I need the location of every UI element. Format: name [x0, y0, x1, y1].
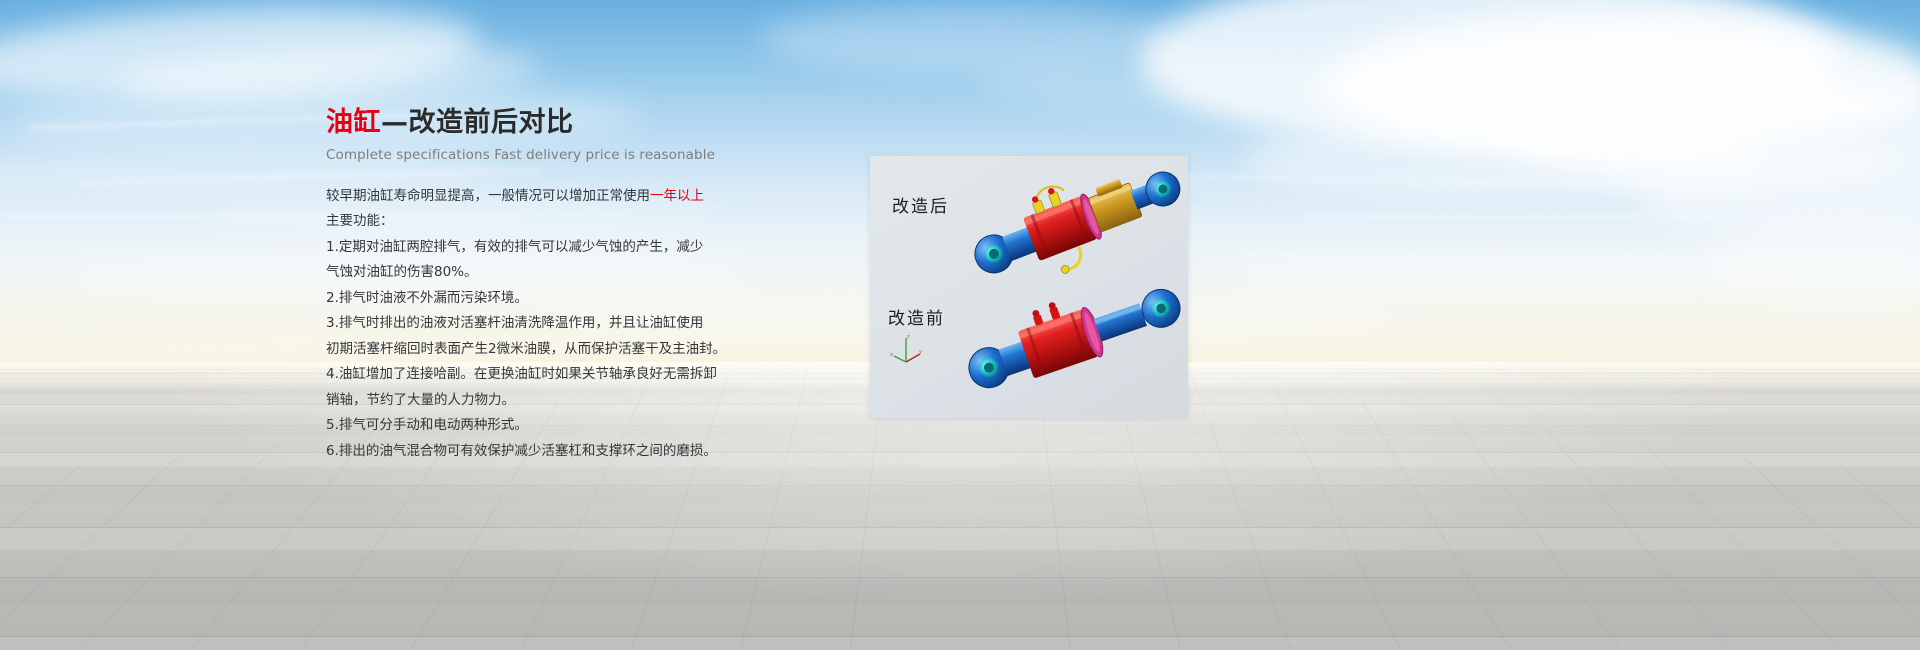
page-title: 油缸—改造前后对比 [326, 108, 756, 138]
feature-line: 4.油缸增加了连接哈副。在更换油缸时如果关节轴承良好无需拆卸 [326, 362, 756, 388]
feature-line-text: 较早期油缸寿命明显提高，一般情况可以增加正常使用 [326, 188, 650, 204]
feature-line-text: 销轴，节约了大量的人力物力。 [326, 392, 515, 408]
feature-line: 2.排气时油液不外漏而污染环境。 [326, 286, 756, 312]
svg-text:z: z [907, 334, 910, 340]
svg-text:y: y [919, 349, 922, 355]
feature-line: 5.排气可分手动和电动两种形式。 [326, 413, 756, 439]
banner-text-column: 油缸—改造前后对比 Complete specifications Fast d… [326, 108, 756, 464]
cylinder-render-before [960, 278, 1190, 398]
cloud-shape [980, 60, 1360, 110]
page-subtitle: Complete specifications Fast delivery pr… [326, 147, 756, 163]
cloud-streak [1300, 215, 1720, 218]
page-title-rest: —改造前后对比 [381, 107, 574, 138]
feature-line-text: 初期活塞杆缩回时表面产生2微米油膜，从而保护活塞干及主油封。 [326, 341, 726, 357]
feature-line-text: 2.排气时油液不外漏而污染环境。 [326, 290, 528, 306]
feature-line: 3.排气时排出的油液对活塞杆油清洗降温作用，并且让油缸使用 [326, 311, 756, 337]
product-image-panel: 改造后 改造前 z x y [870, 156, 1188, 418]
feature-line: 销轴，节约了大量的人力物力。 [326, 388, 756, 414]
feature-list: 较早期油缸寿命明显提高，一般情况可以增加正常使用一年以上主要功能：1.定期对油缸… [326, 184, 756, 465]
feature-line-text: 主要功能： [326, 213, 394, 229]
feature-line-text: 5.排气可分手动和电动两种形式。 [326, 417, 528, 433]
page-title-highlight: 油缸 [326, 107, 381, 138]
label-before-modification: 改造前 [888, 304, 945, 329]
product-banner: 油缸—改造前后对比 Complete specifications Fast d… [0, 0, 1920, 650]
feature-line: 主要功能： [326, 209, 756, 235]
label-after-modification: 改造后 [892, 192, 949, 217]
feature-line-text: 气蚀对油缸的伤害80%。 [326, 264, 478, 280]
feature-line-text: 4.油缸增加了连接哈副。在更换油缸时如果关节轴承良好无需拆卸 [326, 366, 717, 382]
feature-line: 初期活塞杆缩回时表面产生2微米油膜，从而保护活塞干及主油封。 [326, 337, 756, 363]
axis-indicator-icon: z x y [890, 332, 924, 366]
feature-line: 气蚀对油缸的伤害80%。 [326, 260, 756, 286]
feature-line: 较早期油缸寿命明显提高，一般情况可以增加正常使用一年以上 [326, 184, 756, 210]
cloud-shape [1700, 230, 1920, 300]
feature-line-text: 3.排气时排出的油液对活塞杆油清洗降温作用，并且让油缸使用 [326, 315, 703, 331]
feature-line-text: 1.定期对油缸两腔排气，有效的排气可以减少气蚀的产生，减少 [326, 239, 703, 255]
svg-text:x: x [890, 352, 893, 358]
cylinder-render-after [966, 166, 1188, 278]
feature-line-text: 6.排出的油气混合物可有效保护减少活塞杠和支撑环之间的磨损。 [326, 443, 717, 459]
feature-line-highlight: 一年以上 [650, 188, 704, 204]
feature-line: 1.定期对油缸两腔排气，有效的排气可以减少气蚀的产生，减少 [326, 235, 756, 261]
feature-line: 6.排出的油气混合物可有效保护减少活塞杠和支撑环之间的磨损。 [326, 439, 756, 465]
